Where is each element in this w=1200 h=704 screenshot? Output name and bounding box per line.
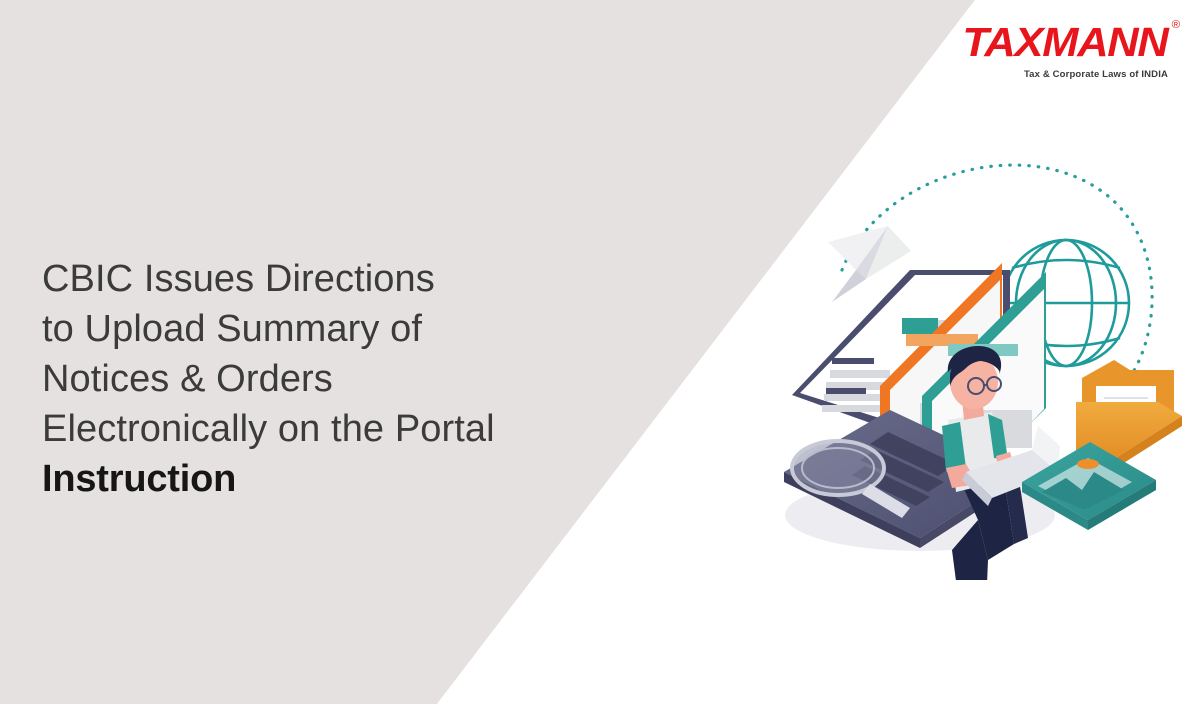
registered-trademark-icon: ® <box>1172 20 1181 31</box>
headline-line-2: to Upload Summary of <box>42 304 662 354</box>
headline-line-4: Electronically on the Portal <box>42 404 662 454</box>
banner-root: TAXMANN® Tax & Corporate Laws of INDIA C… <box>0 0 1200 704</box>
headline-line-1: CBIC Issues Directions <box>42 254 662 304</box>
taxmann-logo: TAXMANN® Tax & Corporate Laws of INDIA <box>974 22 1168 80</box>
logo-wordmark-text: TAXMANN <box>963 19 1168 65</box>
headline-line-5-emphasis: Instruction <box>42 454 662 504</box>
logo-tagline: Tax & Corporate Laws of INDIA <box>974 70 1168 80</box>
headline-line-3: Notices & Orders <box>42 354 662 404</box>
hero-illustration <box>770 120 1190 580</box>
logo-wordmark: TAXMANN® <box>963 22 1168 63</box>
page-title: CBIC Issues Directions to Upload Summary… <box>42 254 662 504</box>
